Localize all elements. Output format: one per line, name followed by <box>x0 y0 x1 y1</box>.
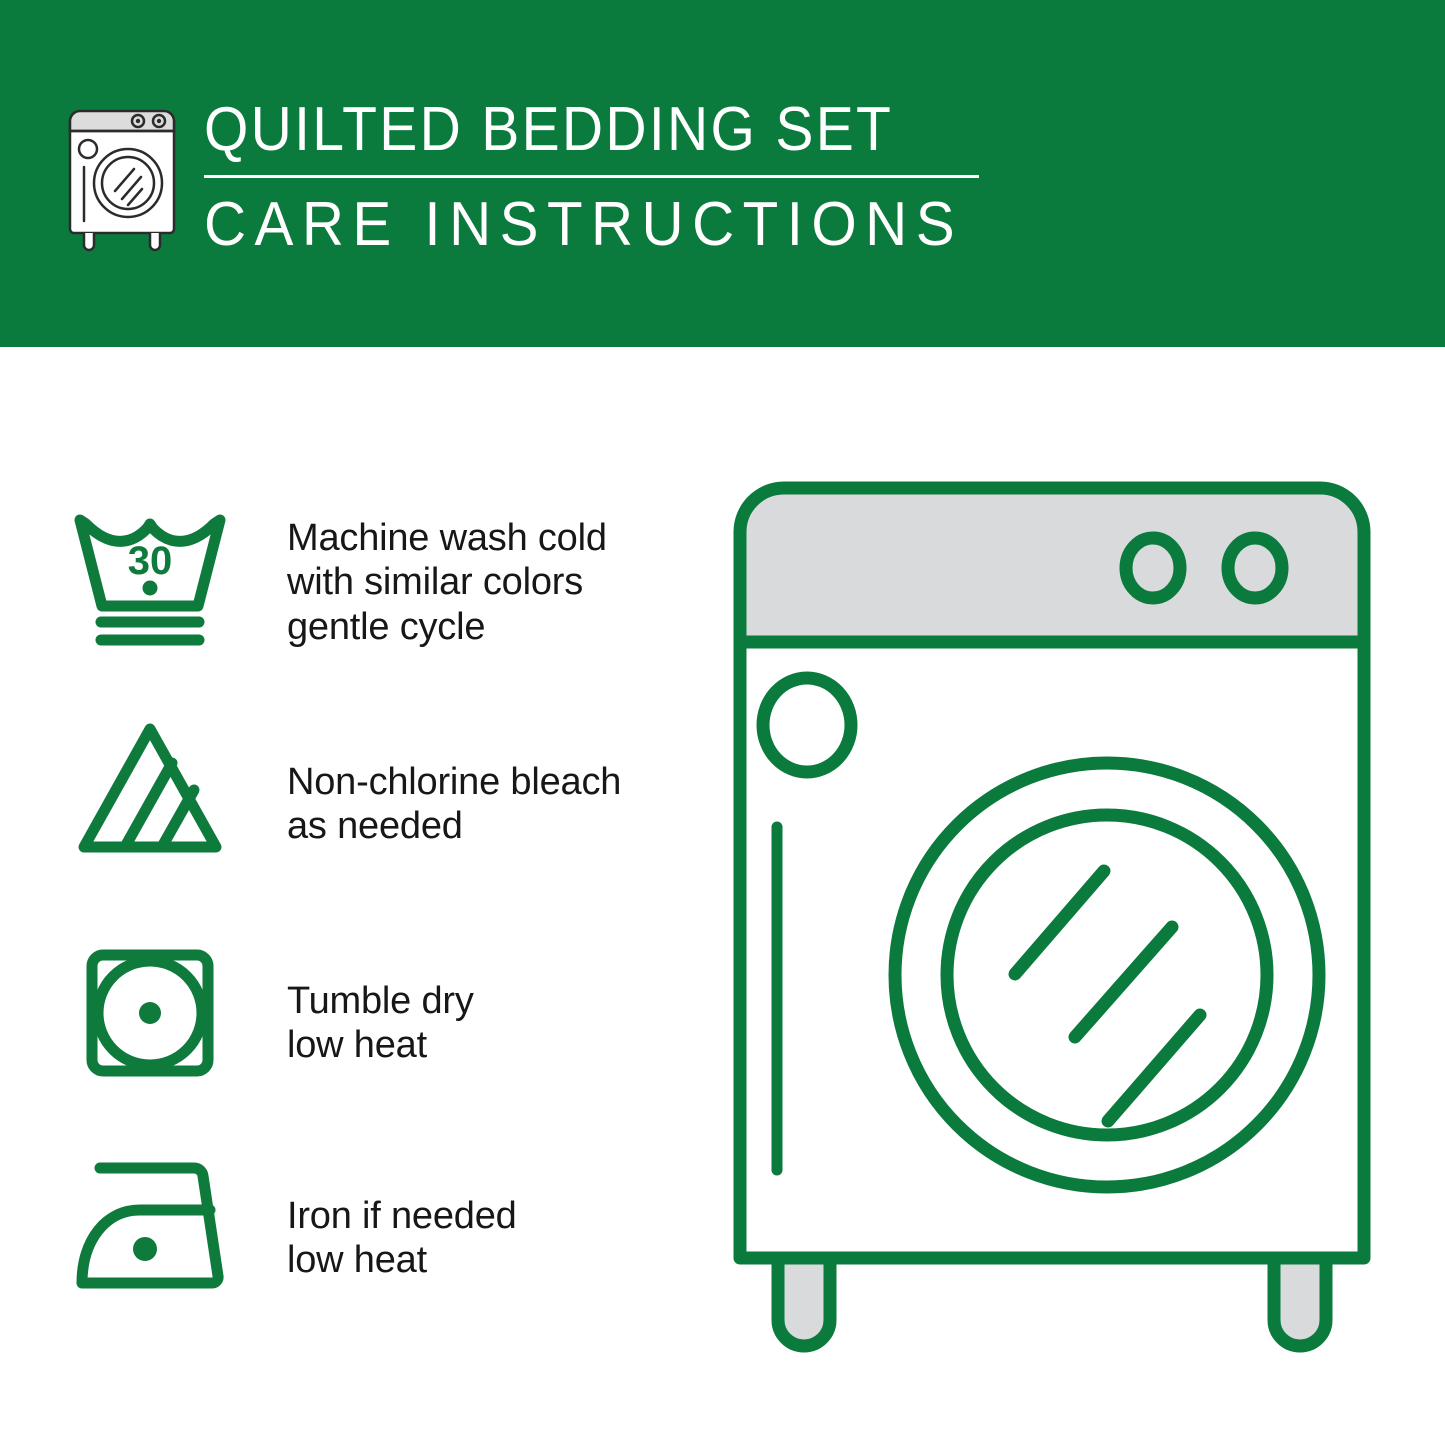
page-subtitle: CARE INSTRUCTIONS <box>204 194 963 256</box>
title-divider <box>204 175 979 178</box>
care-item-iron: Iron if needed low heat <box>70 1152 690 1297</box>
header-title-group: QUILTED BEDDING SET CARE INSTRUCTIONS <box>204 95 1011 256</box>
care-item-bleach: Non-chlorine bleach as needed <box>70 717 690 862</box>
care-item-label: Iron if needed low heat <box>235 1152 517 1283</box>
drum-stripe-2 <box>1075 927 1172 1037</box>
wash-tub-30-icon: 30 <box>70 502 235 647</box>
care-item-label: Non-chlorine bleach as needed <box>235 717 621 849</box>
iron-icon <box>70 1152 235 1297</box>
tumble-dry-icon <box>70 939 235 1084</box>
page-title: QUILTED BEDDING SET <box>204 99 947 161</box>
drum-stripe-3 <box>1108 1015 1200 1121</box>
wash-temperature-label: 30 <box>128 539 173 583</box>
header-content: QUILTED BEDDING SET CARE INSTRUCTIONS <box>62 95 1011 256</box>
washing-machine-icon <box>62 95 182 255</box>
care-instructions-list: 30 Machine wash cold with similar colors… <box>0 347 700 1445</box>
leg-left <box>778 1258 830 1346</box>
care-item-machine-wash: 30 Machine wash cold with similar colors… <box>70 502 690 649</box>
drum-stripe-1 <box>1015 871 1104 974</box>
drum-inner-ring <box>947 815 1267 1135</box>
care-item-label: Tumble dry low heat <box>235 939 474 1068</box>
indicator-circle <box>763 678 851 772</box>
control-panel <box>740 488 1364 642</box>
care-item-label: Machine wash cold with similar colors ge… <box>235 502 607 649</box>
care-item-tumble-dry: Tumble dry low heat <box>70 939 690 1084</box>
leg-right <box>1274 1258 1326 1346</box>
header-banner: QUILTED BEDDING SET CARE INSTRUCTIONS <box>0 0 1445 347</box>
washing-machine-illustration <box>722 470 1382 1370</box>
bleach-triangle-icon <box>70 717 235 862</box>
